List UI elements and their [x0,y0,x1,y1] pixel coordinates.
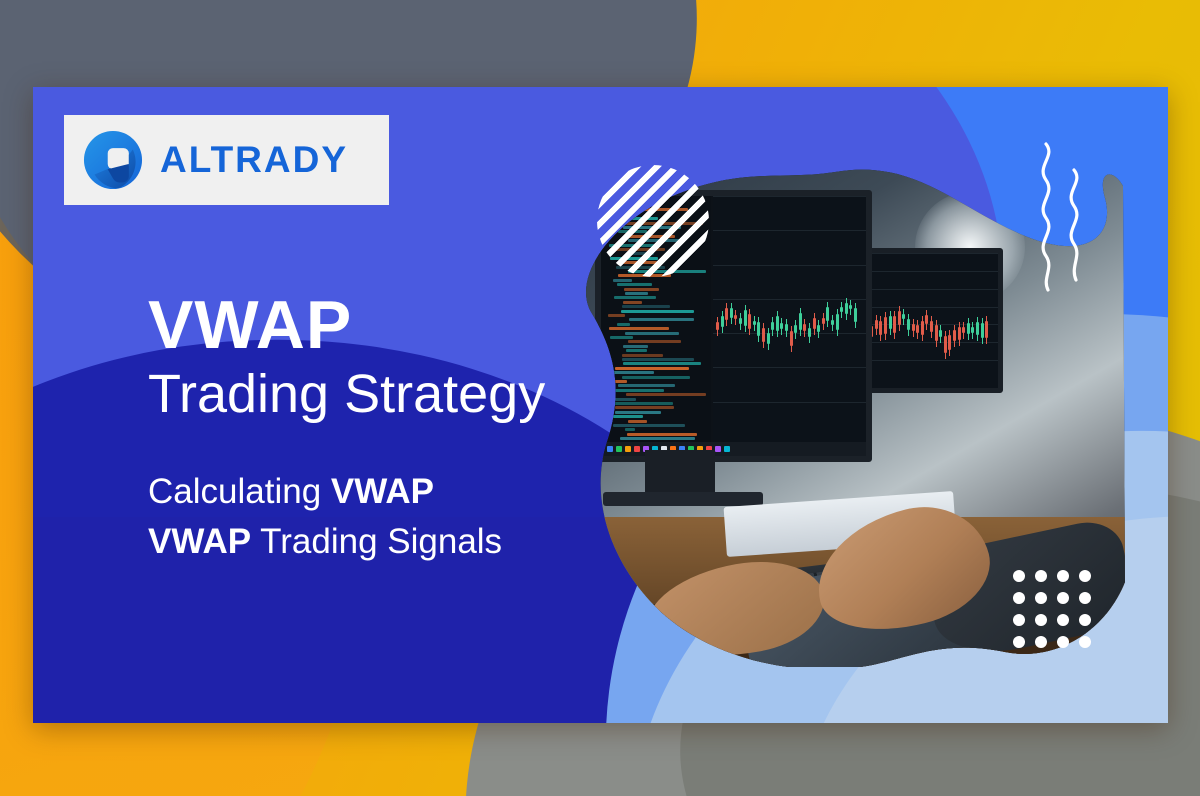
striped-circle-decor [597,165,709,277]
order-book-row [610,336,633,339]
order-book-row [624,288,660,291]
candlestick [771,322,774,330]
candlestick [762,328,765,342]
order-book-row [609,327,669,330]
dot-grid-dot [1057,636,1069,648]
order-book-row [617,323,630,326]
taskbar-icon [634,446,640,452]
altrady-logo-text: ALTRADY [160,139,348,181]
order-book-row [625,332,679,335]
candlestick [884,317,887,335]
dot-grid-decor [1008,565,1096,653]
candlestick [845,303,848,313]
banner-stage: ALTRADY VWAP Trading Strategy Calculatin… [0,0,1200,796]
candlestick [907,319,910,330]
candlestick [808,328,811,337]
bullet-line: Calculating VWAP [148,467,502,517]
candlestick [985,321,988,339]
bullet-list: Calculating VWAPVWAP Trading Signals [148,467,502,566]
photo-monitor-taskbar [601,442,866,456]
photo-primary-chart [713,196,866,456]
candlestick [757,322,760,336]
bullet-line: VWAP Trading Signals [148,517,502,567]
order-book-row [608,314,626,317]
candlestick [744,310,747,326]
taskbar-icon [625,446,631,452]
candlestick [794,325,797,333]
order-book-row [615,406,674,409]
chart-gridline [858,289,998,290]
order-book-row [626,349,646,352]
candlestick [925,315,928,324]
candlestick [734,315,737,319]
altrady-logo-badge[interactable]: ALTRADY [64,115,389,205]
chart-gridline [858,271,998,272]
candlestick [971,327,974,333]
candlestick [912,324,915,330]
order-book-row [612,415,643,418]
candlestick [939,330,942,337]
candlestick [902,314,905,319]
candlestick [822,318,825,324]
candlestick [748,314,751,328]
order-book-row [611,371,654,374]
candlestick [836,314,839,330]
dot-grid-dot [1057,614,1069,626]
candlestick [948,335,951,350]
candlestick [831,320,834,325]
candlestick [730,308,733,318]
candlestick [721,316,724,328]
photo-monitor-base [603,492,763,506]
order-book-row [625,428,635,431]
candlestick [776,316,779,332]
dot-grid-dot [1079,570,1091,582]
candlestick [854,308,857,323]
candlestick [967,323,970,333]
order-book-row [615,411,661,414]
order-book-row [613,424,685,427]
candlestick [716,322,719,329]
order-book-row [618,384,676,387]
photo-secondary-monitor [853,248,1003,393]
candlestick [785,324,788,331]
order-book-row [608,402,673,405]
order-book-row [625,292,649,295]
page-title: VWAP [148,292,545,359]
candlestick [840,307,843,312]
squiggle-decor [1030,138,1100,308]
taskbar-icon [607,446,613,452]
order-book-row [620,437,695,440]
dot-grid-dot [1035,570,1047,582]
order-book-row [623,362,701,365]
candlestick [817,325,820,332]
candlestick [944,336,947,353]
order-book-row [622,358,694,361]
order-book-row [622,305,670,308]
order-book-row [617,283,653,286]
dot-grid-dot [1057,570,1069,582]
candlestick [916,325,919,333]
page-subtitle: Trading Strategy [148,363,545,427]
order-book-row [626,393,706,396]
candlestick [930,321,933,332]
chart-gridline [858,360,998,361]
candlestick [799,313,802,329]
candlestick [826,307,829,320]
chart-gridline [713,402,866,403]
dot-grid-dot [1035,614,1047,626]
dot-grid-dot [1013,592,1025,604]
candlestick [725,308,728,320]
chart-gridline [858,307,998,308]
dot-grid-dot [1079,592,1091,604]
photo-secondary-chart [858,253,998,388]
candlestick [898,311,901,324]
candlestick [921,321,924,335]
altrady-q-mark-icon [80,127,146,193]
candlestick [780,323,783,328]
dot-grid-dot [1079,636,1091,648]
taskbar-icon [616,446,622,452]
candlestick [935,325,938,341]
candlestick [790,331,793,346]
candlestick [753,321,756,325]
order-book-row [608,389,663,392]
candlestick [962,327,965,333]
order-book-row [623,345,648,348]
dot-grid-dot [1079,614,1091,626]
candlestick [739,318,742,324]
candlestick [767,333,770,343]
headline-block: VWAP Trading Strategy [148,292,545,426]
candlestick [976,322,979,335]
dot-grid-dot [1013,636,1025,648]
dot-grid-dot [1057,592,1069,604]
order-book-row [622,376,690,379]
candlestick [889,316,892,329]
order-book-row [621,310,694,313]
order-book-row [614,296,656,299]
candlestick [879,321,882,335]
order-book-row [615,367,690,370]
candlestick [958,327,961,339]
chart-gridline [858,253,998,254]
dot-grid-dot [1035,636,1047,648]
chart-gridline [858,342,998,343]
order-book-row [622,354,663,357]
photo-monitor-neck [645,450,715,495]
taskbar-icon [715,446,721,452]
chart-gridline [713,367,866,368]
squiggle-icon [1030,138,1100,308]
chart-gridline [713,265,866,266]
taskbar-icon [724,446,730,452]
dot-grid-dot [1013,570,1025,582]
candlestick [813,318,816,329]
dot-grid-dot [1035,592,1047,604]
order-book-row [623,301,643,304]
chart-gridline [713,299,866,300]
order-book-row [628,420,647,423]
candlestick [875,320,878,329]
dot-grid-dot [1013,614,1025,626]
candlestick [849,305,852,309]
order-book-row [628,340,681,343]
candlestick [953,330,956,341]
chart-gridline [713,230,866,231]
candlestick [803,324,806,331]
chart-gridline [713,196,866,197]
candlestick [893,316,896,333]
candlestick [981,323,984,338]
order-book-row [627,433,697,436]
order-book-row [629,318,694,321]
order-book-row [613,279,632,282]
